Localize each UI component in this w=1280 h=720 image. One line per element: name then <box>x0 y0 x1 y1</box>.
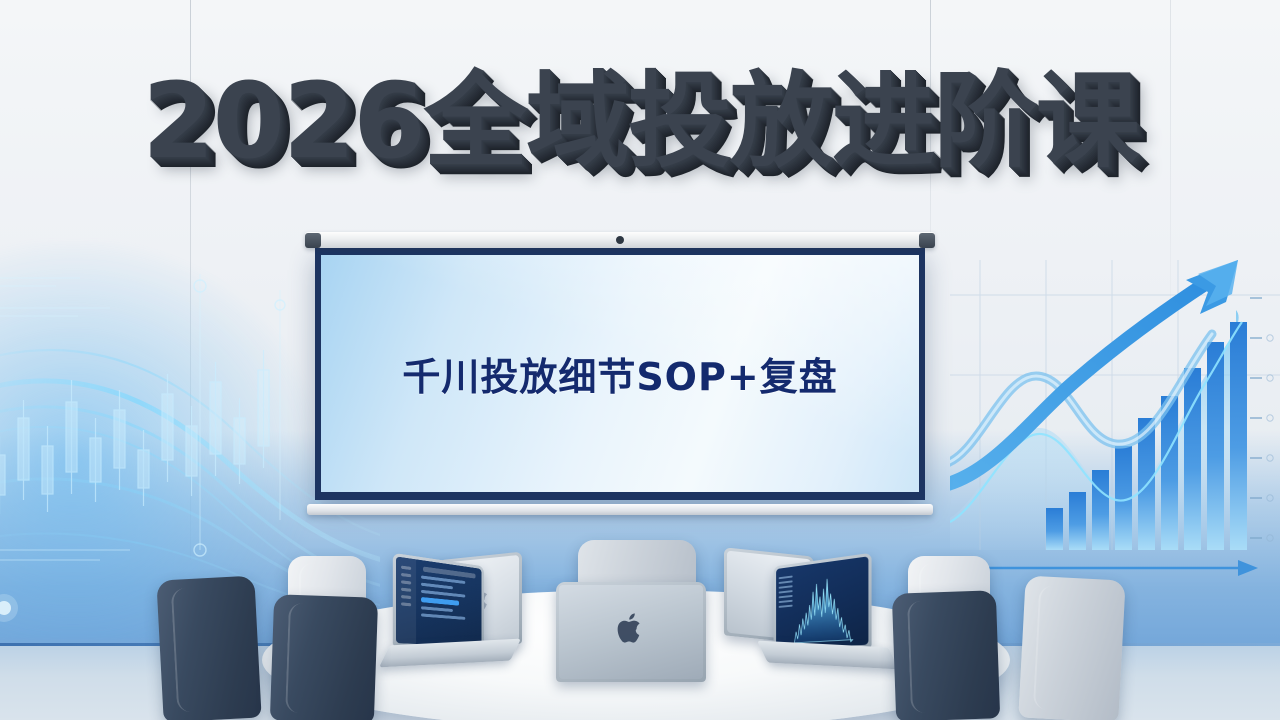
roller-end-cap-right <box>919 233 935 248</box>
chair-right-front <box>892 590 1000 720</box>
laptop-lid <box>556 582 706 682</box>
dashboard-row-highlight <box>421 597 459 606</box>
laptop-center-apple <box>556 582 706 686</box>
laptop-keyboard-base <box>757 641 899 670</box>
laptop-right-open[interactable] <box>762 560 886 672</box>
chair-far-right <box>1018 575 1125 720</box>
laptop-display <box>776 556 868 649</box>
dashboard-row <box>421 590 465 598</box>
hud-bright-dot <box>0 594 18 622</box>
analytics-spike-chart <box>776 556 868 649</box>
dashboard-main-panel <box>416 559 481 646</box>
dashboard-ui-mock <box>396 556 482 646</box>
screen-headline-text: 千川投放细节SOP+复盘 <box>402 346 837 401</box>
dashboard-sidebar <box>396 556 416 644</box>
projector-pull-knob-icon[interactable] <box>616 236 624 244</box>
chair-left-front <box>270 594 378 720</box>
screen-roller-casing <box>305 232 935 248</box>
screen-bottom-weight-bar <box>307 504 933 515</box>
chart-x-axis <box>954 560 1258 576</box>
chart-tick-labels <box>1267 335 1273 541</box>
dashboard-row <box>421 606 453 612</box>
chair-seam <box>170 585 247 713</box>
growth-chart-graphic <box>950 250 1280 620</box>
laptop-lid <box>393 553 484 650</box>
chair-seam <box>907 598 986 713</box>
laptop-lid-surface <box>559 585 703 679</box>
roller-end-cap-left <box>305 233 321 248</box>
analytics-sidebar <box>779 573 793 611</box>
chart-y-axis-ticks <box>1250 298 1262 538</box>
chair-seam <box>285 602 364 715</box>
screen-frame: 千川投放细节SOP+复盘 <box>315 248 925 500</box>
screen-surface: 千川投放细节SOP+复盘 <box>321 255 919 492</box>
projection-screen[interactable]: 千川投放细节SOP+复盘 <box>305 232 935 522</box>
laptop-lid <box>774 553 872 652</box>
apple-logo-icon <box>616 611 646 645</box>
page-title: 2026全域投放进阶课 <box>0 62 1280 180</box>
poster-canvas: 千川投放细节SOP+复盘 2026全域投放进阶课 <box>0 0 1280 720</box>
chair-far-left <box>156 576 261 720</box>
laptop-left-open[interactable] <box>392 560 510 672</box>
dashboard-row <box>421 583 453 590</box>
dashboard-row <box>421 613 465 619</box>
laptop-display <box>396 556 482 646</box>
chair-seam <box>1033 585 1111 714</box>
